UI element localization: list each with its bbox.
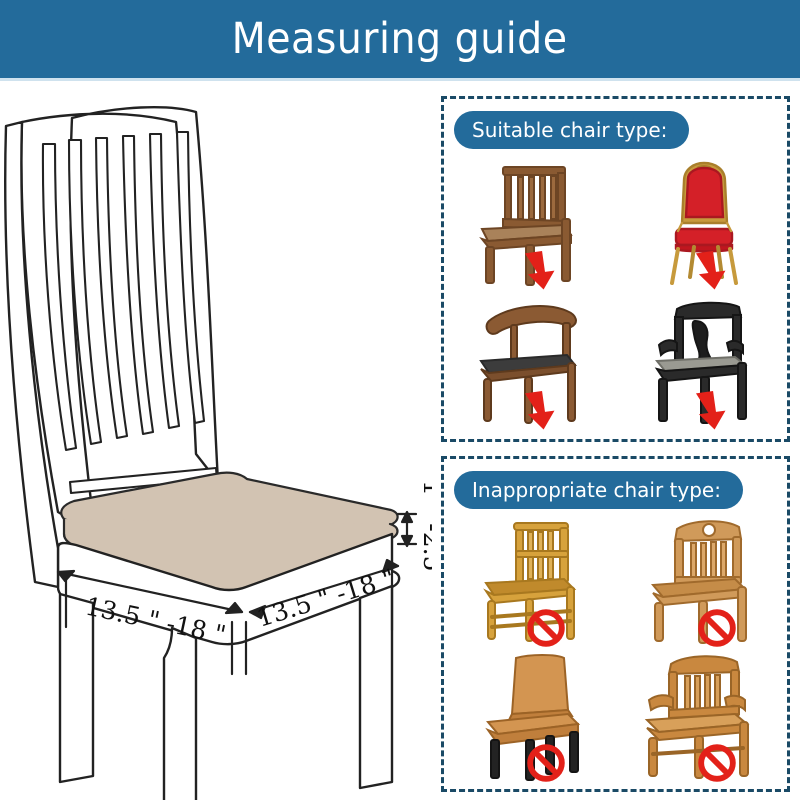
dimension-seat-thickness <box>398 512 416 546</box>
red-check-arrow-icon <box>521 247 567 293</box>
red-prohibition-sign-icon <box>526 608 566 648</box>
red-prohibition-sign-icon <box>526 743 566 783</box>
red-prohibition-sign-icon <box>697 743 737 783</box>
chair-measurement-diagram: 13.5 " -18 " 13.5 " -18 " 1 " -2.5 " <box>0 82 432 800</box>
banner-underline <box>0 78 800 81</box>
chair-card-wood-spindle-back-chair[interactable] <box>444 155 616 295</box>
chair-card-walnut-curved-back-chair[interactable] <box>444 295 616 435</box>
panel-inappropriate-chair-type: Inappropriate chair type: <box>441 456 790 792</box>
red-check-arrow-icon <box>693 387 739 433</box>
chair-card-black-armchair[interactable] <box>616 295 788 435</box>
chair-card-oak-armchair[interactable] <box>616 650 788 785</box>
chair-card-tan-leather-parsons-chair[interactable] <box>444 650 616 785</box>
header-banner: Measuring guide <box>0 0 800 78</box>
panel-heading-suitable: Suitable chair type: <box>454 111 689 149</box>
chair-card-red-banquet-chair[interactable] <box>616 155 788 295</box>
chair-card-gold-chiavari-chair[interactable] <box>444 515 616 650</box>
inappropriate-chair-grid <box>444 515 787 785</box>
red-check-arrow-icon <box>521 387 567 433</box>
panel-heading-inappropriate: Inappropriate chair type: <box>454 471 743 509</box>
red-prohibition-sign-icon <box>697 608 737 648</box>
dimension-label-seat-thickness: 1 " -2.5 " <box>418 480 432 591</box>
panel-suitable-chair-type: Suitable chair type: <box>441 96 790 442</box>
chair-card-light-oak-slat-chair[interactable] <box>616 515 788 650</box>
red-check-arrow-icon <box>693 247 739 293</box>
page-title: Measuring guide <box>232 14 568 64</box>
suitable-chair-grid <box>444 155 787 435</box>
